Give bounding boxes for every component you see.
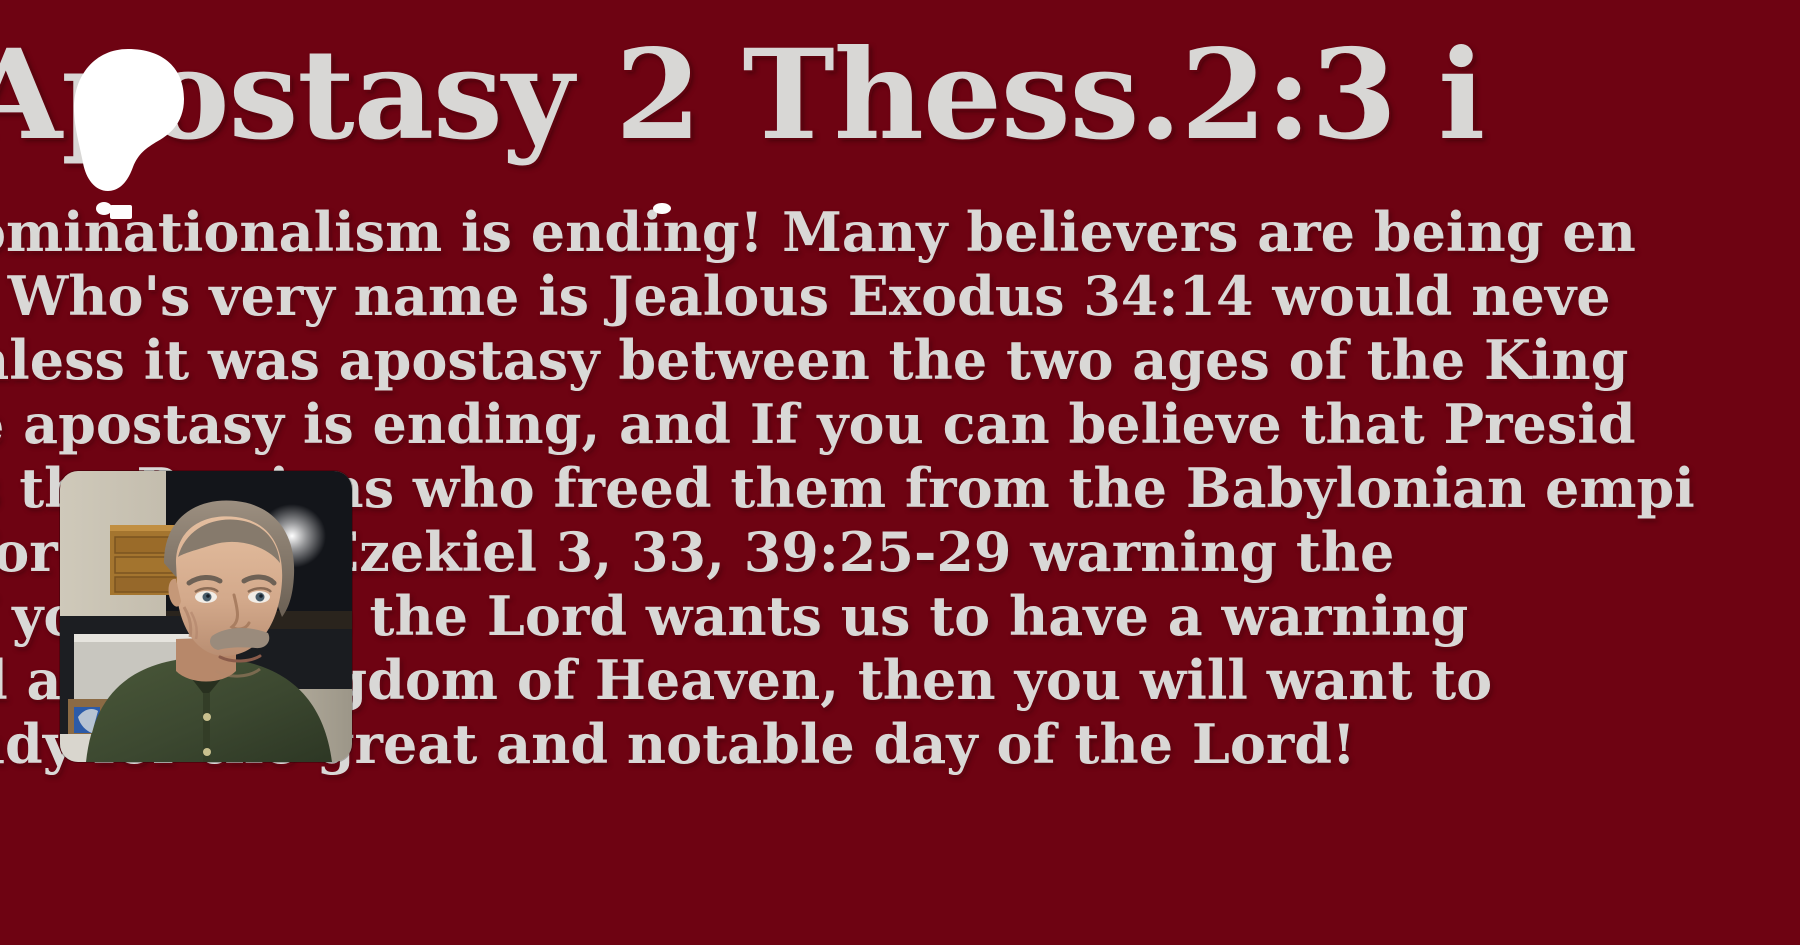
slide-body-line: nless it was apostasy between the two ag… (0, 328, 1800, 392)
slide-body-line: , Who's very name is Jealous Exodus 34:1… (0, 264, 1800, 328)
slide-body-line: e apostasy is ending, and If you can bel… (0, 392, 1800, 456)
white-artifact-square (110, 205, 132, 219)
slide-title: Apostasy 2 Thess.2:3 i (0, 34, 1800, 158)
video-frame: Apostasy 2 Thess.2:3 i ominationalism is… (0, 0, 1800, 945)
slide-body-line: ominationalism is ending! Many believers… (0, 200, 1800, 264)
white-artifact-dot (653, 203, 671, 214)
webcam-video-image (60, 471, 352, 762)
presenter-webcam-overlay[interactable] (60, 471, 352, 762)
white-artifact-dot (96, 202, 112, 215)
